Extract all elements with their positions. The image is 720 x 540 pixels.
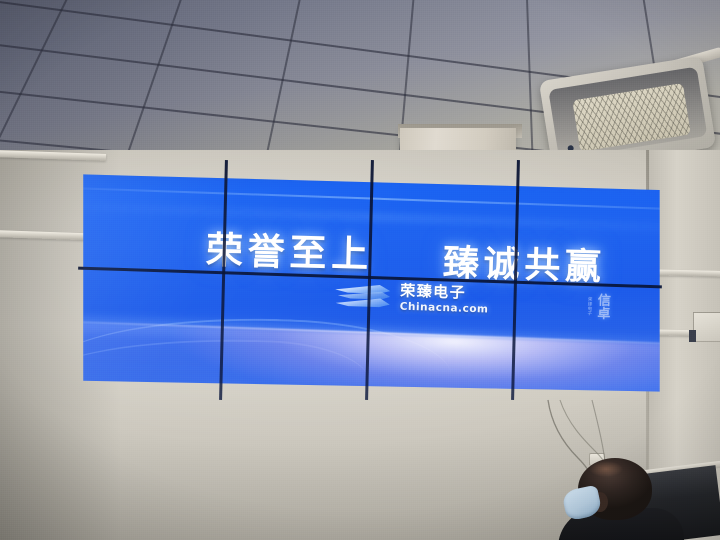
- corner-watermark-large-text: 信卓: [595, 293, 609, 320]
- brand-url: Chinacna.com: [400, 302, 489, 315]
- wall-control-panel[interactable]: [693, 312, 720, 342]
- brand-name-cn: 荣臻电子: [400, 284, 489, 302]
- video-wall[interactable]: 荣誉至上 臻诚共赢: [78, 160, 662, 400]
- chevron-arrow-emblem-icon: [333, 282, 392, 312]
- person-hair-highlight: [589, 461, 623, 477]
- wall-switch[interactable]: [689, 330, 696, 342]
- seated-person: [556, 452, 686, 540]
- corner-watermark-small-text: 荣臻电子: [586, 297, 593, 316]
- brand-text-block: 荣臻电子 Chinacna.com: [400, 284, 490, 315]
- slogan-line-1: 荣誉至上: [205, 220, 374, 279]
- corner-watermark: 荣臻电子 信卓: [586, 293, 609, 320]
- brand-lockup: 荣臻电子 Chinacna.com: [333, 282, 490, 315]
- photo-scene: 荣誉至上 臻诚共赢: [0, 0, 720, 540]
